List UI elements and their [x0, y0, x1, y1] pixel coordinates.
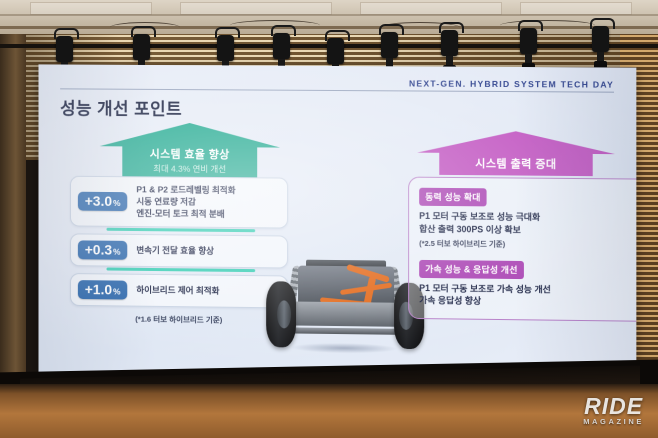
gain-unit: %	[113, 246, 120, 256]
card-line: 엔진-모터 토크 최적 분배	[136, 208, 235, 221]
efficiency-banner-title: 시스템 효율 향상	[150, 149, 230, 162]
gain-badge: +0.3%	[78, 240, 128, 259]
section-tag: 가속 성능 & 응답성 개선	[419, 259, 524, 278]
arrow-body: 시스템 효율 향상 최대 4.3% 연비 개선	[122, 146, 257, 177]
arrow-head-up-icon	[417, 131, 615, 155]
gain-value: +0.3	[85, 241, 112, 257]
gain-badge: +3.0%	[78, 192, 128, 211]
card-line: 시동 연료량 저감	[136, 195, 235, 208]
wheel-rim	[277, 300, 291, 328]
section-tag: 동력 성능 확대	[419, 188, 486, 207]
gain-value: +1.0	[85, 281, 112, 297]
card-line: P1 & P2 로드레벨링 최적화	[136, 183, 235, 196]
card-text-block: P1 & P2 로드레벨링 최적화 시동 연료량 저감 엔진-모터 토크 최적 …	[136, 183, 235, 220]
power-section-2: 가속 성능 & 응답성 개선 P1 모터 구동 보조로 가속 성능 개선 가속 …	[419, 258, 635, 309]
power-banner-title: 시스템 출력 증대	[475, 158, 556, 171]
power-detail-card: 동력 성능 확대 P1 모터 구동 보조로 성능 극대화 합산 출력 300PS…	[408, 177, 636, 322]
watermark-title: RIDE	[583, 393, 644, 420]
teal-accent-bar	[106, 227, 255, 231]
efficiency-banner-subtitle: 최대 4.3% 연비 개선	[153, 162, 226, 175]
teal-accent-bar	[106, 267, 255, 272]
slide-title: 성능 개선 포인트	[60, 94, 182, 120]
efficiency-card: +3.0% P1 & P2 로드레벨링 최적화 시동 연료량 저감 엔진-모터 …	[70, 176, 288, 228]
section-footnote: (*2.5 터보 하이브리드 기준)	[419, 237, 635, 250]
gain-unit: %	[113, 198, 120, 208]
power-arrow-banner: 시스템 출력 증대	[417, 131, 615, 177]
gain-badge: +1.0%	[78, 280, 128, 299]
gain-value: +3.0	[85, 193, 112, 209]
tire	[266, 281, 296, 347]
card-line: 변속기 전달 효율 향상	[136, 244, 214, 257]
arrow-head-up-icon	[100, 122, 281, 147]
ceiling-seam	[0, 14, 658, 16]
card-line: 합산 출력 300PS 이상 확보	[419, 223, 635, 238]
gain-unit: %	[113, 286, 120, 296]
watermark: RIDE MAGAZINE	[583, 393, 644, 426]
lighting-cable	[500, 20, 595, 31]
subframe	[288, 301, 402, 326]
chassis-shadow	[268, 341, 420, 355]
card-line: 하이브리드 제어 최적화	[136, 284, 219, 297]
card-text-block: 변속기 전달 효율 향상	[136, 244, 214, 257]
projection-screen: NEXT-GEN. HYBRID SYSTEM TECH DAY 성능 개선 포…	[38, 64, 636, 382]
card-text-block: 하이브리드 제어 최적화	[136, 284, 219, 297]
power-section-1: 동력 성능 확대 P1 모터 구동 보조로 성능 극대화 합산 출력 300PS…	[419, 187, 635, 251]
card-text-block: P1 모터 구동 보조로 가속 성능 개선 가속 응답성 향상	[419, 281, 635, 309]
conference-stage-photo: NEXT-GEN. HYBRID SYSTEM TECH DAY 성능 개선 포…	[0, 0, 658, 438]
efficiency-arrow-banner: 시스템 효율 향상 최대 4.3% 연비 개선	[100, 122, 281, 177]
stage-floor	[0, 384, 658, 438]
card-line: 가속 응답성 향상	[419, 294, 635, 309]
presentation-slide: NEXT-GEN. HYBRID SYSTEM TECH DAY 성능 개선 포…	[38, 64, 636, 382]
event-header-label: NEXT-GEN. HYBRID SYSTEM TECH DAY	[409, 78, 614, 89]
card-text-block: P1 모터 구동 보조로 성능 극대화 합산 출력 300PS 이상 확보	[419, 210, 635, 238]
arrow-body: 시스템 출력 증대	[439, 153, 592, 176]
watermark-subtitle: MAGAZINE	[583, 417, 644, 426]
